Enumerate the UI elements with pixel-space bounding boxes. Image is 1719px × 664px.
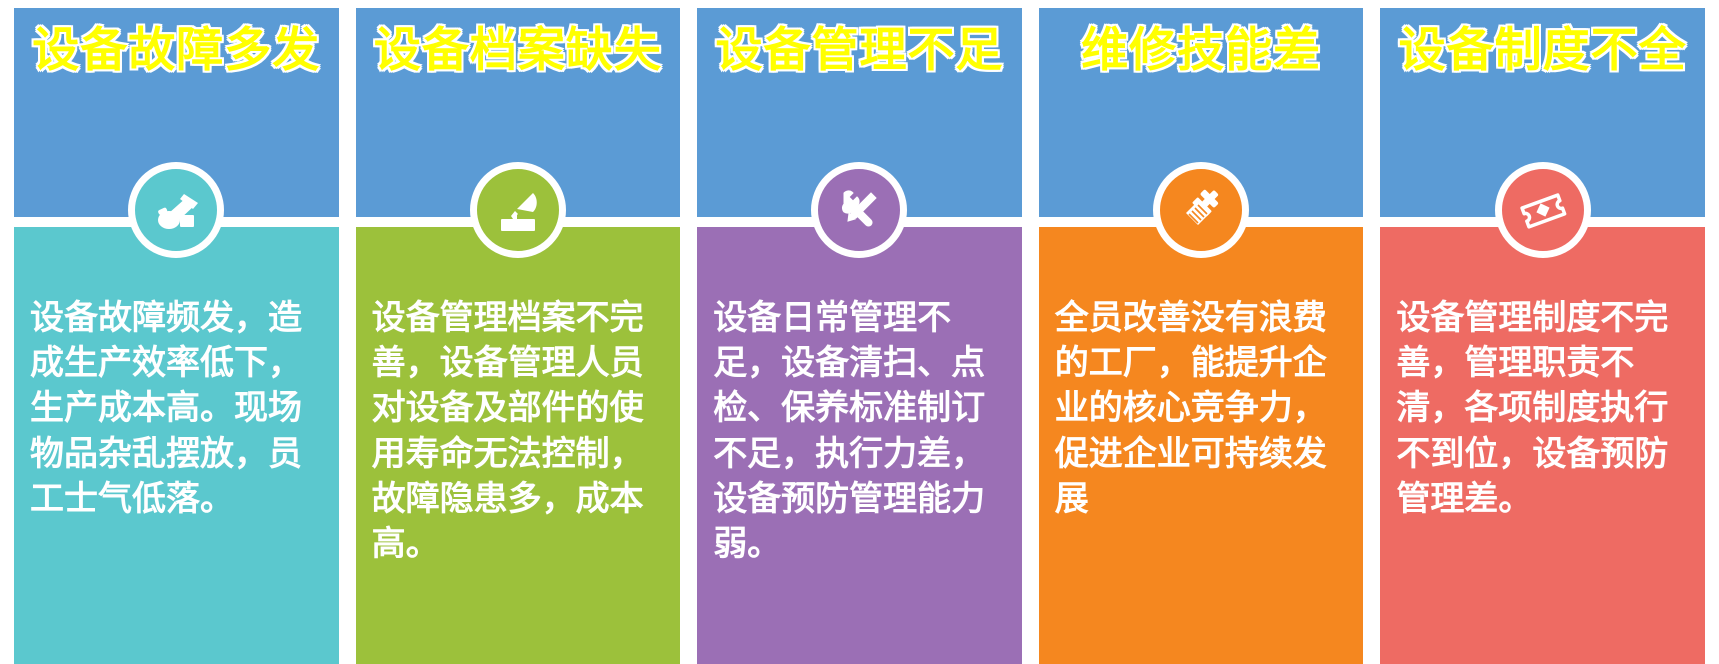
column-body-4: 全员改善没有浪费的工厂，能提升企业的核心竞争力，促进企业可持续发展 [1039, 227, 1364, 664]
column-body-5: 设备管理制度不完善，管理职责不清，各项制度执行不到位，设备预防管理差。 [1380, 227, 1705, 664]
column-title-5: 设备制度不全 [1399, 26, 1687, 75]
column-text-2: 设备管理档案不完善，设备管理人员对设备及部件的使用寿命无法控制，故障隐患多，成本… [372, 296, 665, 567]
panel-column-2[interactable]: 设备档案缺失 设备管理档案不完善，设备管理人员对设备及部件的使用寿命无法控制，故… [356, 8, 681, 664]
panel-column-5[interactable]: 设备制度不全 设备管理制度不完善，管理职责不清，各项制度执行不到位，设备预防管理… [1380, 8, 1705, 664]
column-title-1: 设备故障多发 [32, 26, 320, 75]
panel-column-4[interactable]: 维修技能差 全员改善没有浪费的工厂，能提升企业的核心竞争力，促进企业可持续发展 [1039, 8, 1364, 664]
column-title-2: 设备档案缺失 [374, 26, 662, 75]
column-body-3: 设备日常管理不足，设备清扫、点检、保养标准制订不足，执行力差，设备预防管理能力弱… [697, 227, 1022, 664]
panel-column-3[interactable]: 设备管理不足 设备日常管理不足，设备清扫、点检、保养标准制订不足，执行力差，设备… [697, 8, 1022, 664]
column-body-2: 设备管理档案不完善，设备管理人员对设备及部件的使用寿命无法控制，故障隐患多，成本… [356, 227, 681, 664]
wrench-screwdriver-icon [811, 162, 907, 258]
ticket-diamond-icon [1495, 162, 1591, 258]
infographic-board: 设备故障多发 设备故障频发，造成生产效率低下，生产成本高。现场物品杂乱摆放，员工… [0, 0, 1719, 664]
column-title-4: 维修技能差 [1081, 26, 1321, 75]
column-text-1: 设备故障频发，造成生产效率低下，生产成本高。现场物品杂乱摆放，员工士气低落。 [30, 296, 323, 522]
column-title-3: 设备管理不足 [715, 26, 1003, 75]
column-text-4: 全员改善没有浪费的工厂，能提升企业的核心竞争力，促进企业可持续发展 [1055, 296, 1348, 522]
paintbrush-icon [1153, 162, 1249, 258]
column-body-1: 设备故障频发，造成生产效率低下，生产成本高。现场物品杂乱摆放，员工士气低落。 [14, 227, 339, 664]
column-text-5: 设备管理制度不完善，管理职责不清，各项制度执行不到位，设备预防管理差。 [1396, 296, 1689, 522]
panel-column-1[interactable]: 设备故障多发 设备故障频发，造成生产效率低下，生产成本高。现场物品杂乱摆放，员工… [14, 8, 339, 664]
column-text-3: 设备日常管理不足，设备清扫、点检、保养标准制订不足，执行力差，设备预防管理能力弱… [713, 296, 1006, 567]
gramophone-icon [470, 162, 566, 258]
cannon-icon [128, 162, 224, 258]
